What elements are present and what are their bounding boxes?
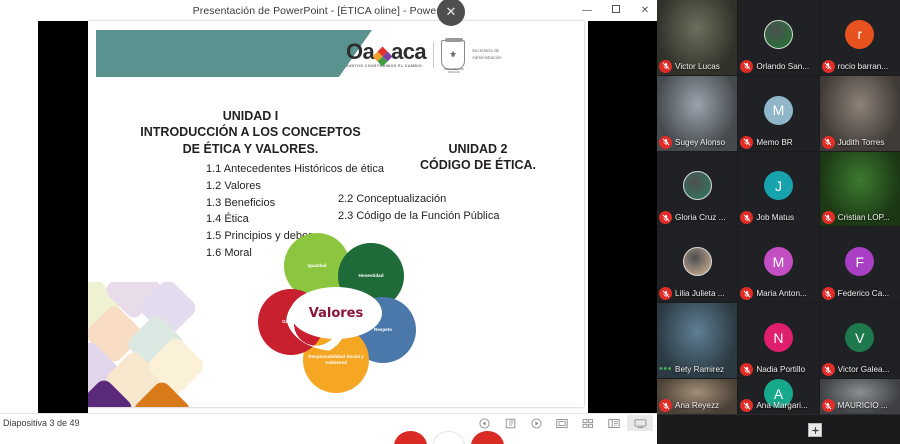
valores-diagram: Igualdad Honestidad Respeto Responsabili… xyxy=(256,231,416,396)
window-controls: — ✕ xyxy=(581,0,651,21)
participant-name: MAURICIO ... xyxy=(838,401,888,410)
slide-sorter-icon[interactable] xyxy=(575,415,601,432)
mic-muted-icon xyxy=(659,211,672,224)
oaxaca-word-post: aca xyxy=(391,39,426,64)
decorative-diamonds xyxy=(88,282,218,407)
avatar xyxy=(683,247,712,276)
participant-name-row: Cristian LOP... xyxy=(822,211,898,224)
minimize-button[interactable]: — xyxy=(581,6,593,16)
more-options-icon[interactable]: ••• xyxy=(659,363,672,376)
participant-name: Ana Margari... xyxy=(756,401,807,410)
avatar xyxy=(764,20,793,49)
participant-tile[interactable]: Sugey Alonso xyxy=(657,76,737,151)
participant-tile[interactable]: MAURICIO ... xyxy=(820,379,900,414)
expand-icon[interactable] xyxy=(808,423,822,437)
participant-name: Victor Galea... xyxy=(838,365,890,374)
avatar: F xyxy=(845,247,874,276)
participant-name: Victor Lucas xyxy=(675,62,720,71)
participant-tile[interactable]: Cristian LOP... xyxy=(820,152,900,227)
unit1-title: UNIDAD I INTRODUCCIÓN A LOS CONCEPTOS DE… xyxy=(98,108,403,157)
participant-name: Cristian LOP... xyxy=(838,213,890,222)
participant-name-row: Federico Ca... xyxy=(822,287,898,300)
secretaria-label: Secretaría de Administración xyxy=(472,48,502,60)
unit2-title-line1: UNIDAD 2 xyxy=(383,141,573,157)
window-titlebar: Presentación de PowerPoint - [ÉTICA olin… xyxy=(0,0,657,21)
mic-muted-icon xyxy=(822,399,835,412)
avatar: N xyxy=(764,323,793,352)
mic-muted-icon xyxy=(659,399,672,412)
screen: Presentación de PowerPoint - [ÉTICA olin… xyxy=(0,0,900,444)
zoom-participant-panel: Victor LucasOrlando San...rrocio barran.… xyxy=(657,0,900,444)
list-item: 1.1 Antecedentes Históricos de ética xyxy=(206,161,384,178)
avatar: V xyxy=(845,323,874,352)
slide-header-logos: Oaaca JUNTOS CONSTRUIMOS EL CAMBIO ⚜ GOB… xyxy=(346,31,576,78)
avatar: M xyxy=(764,247,793,276)
participant-name: Bety Ramirez xyxy=(675,365,724,374)
participant-tile[interactable]: Lilia Julieta ... xyxy=(657,227,737,302)
avatar xyxy=(683,171,712,200)
participant-name-row: Gloria Cruz ... xyxy=(659,211,735,224)
participant-name-row: Maria Anton... xyxy=(740,287,816,300)
slide-canvas[interactable]: Oaaca JUNTOS CONSTRUIMOS EL CAMBIO ⚜ GOB… xyxy=(88,21,584,407)
next-slide-icon[interactable] xyxy=(523,415,549,432)
participant-tile[interactable]: NNadia Portillo xyxy=(738,303,818,378)
avatar: r xyxy=(845,20,874,49)
avatar: M xyxy=(764,96,793,125)
oaxaca-logo: Oaaca JUNTOS CONSTRUIMOS EL CAMBIO xyxy=(346,41,426,68)
participant-tile[interactable]: MMaria Anton... xyxy=(738,227,818,302)
oaxaca-wordmark: Oaaca xyxy=(346,41,426,63)
unit1-title-line2: INTRODUCCIÓN A LOS CONCEPTOS xyxy=(98,124,403,140)
participant-name: Ana Reyezz xyxy=(675,401,719,410)
participant-tile[interactable]: JJob Matus xyxy=(738,152,818,227)
mic-muted-icon xyxy=(740,60,753,73)
mic-muted-icon xyxy=(740,136,753,149)
participant-name-row: Sugey Alonso xyxy=(659,136,735,149)
participant-tile[interactable]: Victor Lucas xyxy=(657,0,737,75)
mic-muted-icon xyxy=(740,399,753,412)
normal-view-icon[interactable] xyxy=(549,415,575,432)
secretaria-line1: Secretaría de xyxy=(472,48,502,54)
maximize-button[interactable] xyxy=(610,5,622,16)
secretaria-line2: Administración xyxy=(472,55,502,61)
neutral-button[interactable] xyxy=(432,431,465,444)
mic-muted-icon xyxy=(740,211,753,224)
participant-grid: Victor LucasOrlando San...rrocio barran.… xyxy=(657,0,900,414)
list-item: 2.2 Conceptualización xyxy=(338,191,499,208)
participant-name: Federico Ca... xyxy=(838,289,889,298)
mic-muted-icon xyxy=(822,363,835,376)
avatar: J xyxy=(764,171,793,200)
previous-slide-icon[interactable] xyxy=(471,415,497,432)
window-title: Presentación de PowerPoint - [ÉTICA olin… xyxy=(193,5,465,17)
participant-tile[interactable]: Orlando San... xyxy=(738,0,818,75)
mic-muted-icon xyxy=(659,60,672,73)
slideshow-view-icon[interactable] xyxy=(627,415,653,432)
mic-muted-icon xyxy=(659,136,672,149)
participant-name-row: rocio barran... xyxy=(822,60,898,73)
slide-counter: Diapositiva 3 de 49 xyxy=(3,418,80,428)
close-button[interactable]: ✕ xyxy=(639,6,651,16)
notes-icon[interactable] xyxy=(497,415,523,432)
valores-center: Valores xyxy=(290,287,382,339)
participant-name-row: Nadia Portillo xyxy=(740,363,816,376)
unit1-title-line3: DE ÉTICA Y VALORES. xyxy=(98,141,403,157)
participant-tile[interactable]: rrocio barran... xyxy=(820,0,900,75)
participant-tile[interactable]: AAna Margari... xyxy=(738,379,818,414)
participant-tile[interactable]: Ana Reyezz xyxy=(657,379,737,414)
mic-muted-icon xyxy=(822,211,835,224)
participant-name: Maria Anton... xyxy=(756,289,807,298)
mic-muted-icon xyxy=(822,287,835,300)
unit2-title: UNIDAD 2 CÓDIGO DE ÉTICA. xyxy=(383,141,573,174)
participant-tile[interactable]: •••Bety Ramirez xyxy=(657,303,737,378)
zoom-bottom-bar xyxy=(657,414,900,444)
participant-tile[interactable]: Judith Torres xyxy=(820,76,900,151)
participant-name: Lilia Julieta ... xyxy=(675,289,725,298)
participant-name-row: Ana Margari... xyxy=(740,399,816,412)
participant-name: Job Matus xyxy=(756,213,794,222)
mic-muted-icon xyxy=(822,60,835,73)
valores-center-label: Valores xyxy=(309,306,363,321)
participant-name-row: Ana Reyezz xyxy=(659,399,735,412)
participant-name: Gloria Cruz ... xyxy=(675,213,726,222)
slide-stage: Oaaca JUNTOS CONSTRUIMOS EL CAMBIO ⚜ GOB… xyxy=(0,21,657,413)
participant-name: Nadia Portillo xyxy=(756,365,805,374)
view-icons-group xyxy=(471,414,653,432)
participant-name-row: Victor Lucas xyxy=(659,60,735,73)
participant-tile[interactable]: VVictor Galea... xyxy=(820,303,900,378)
participant-tile[interactable]: Gloria Cruz ... xyxy=(657,152,737,227)
participant-name-row: Judith Torres xyxy=(822,136,898,149)
stop-share-button[interactable] xyxy=(471,431,504,444)
unit1-title-line1: UNIDAD I xyxy=(98,108,403,124)
unit2-title-line2: CÓDIGO DE ÉTICA. xyxy=(383,157,573,173)
meeting-controls-strip xyxy=(0,431,657,444)
oaxaca-word-pre: Oa xyxy=(346,39,374,64)
mic-muted-icon xyxy=(740,287,753,300)
header-divider xyxy=(433,42,434,68)
participant-tile[interactable]: MMemo BR xyxy=(738,76,818,151)
participant-tile[interactable]: FFederico Ca... xyxy=(820,227,900,302)
letterbox-left xyxy=(38,21,88,413)
participant-name: Orlando San... xyxy=(756,62,809,71)
record-button[interactable] xyxy=(394,431,427,444)
powerpoint-statusbar: Diapositiva 3 de 49 xyxy=(0,413,657,431)
participant-name: Sugey Alonso xyxy=(675,138,725,147)
participant-name-row: Orlando San... xyxy=(740,60,816,73)
participant-name-row: Memo BR xyxy=(740,136,816,149)
participant-name: Judith Torres xyxy=(838,138,885,147)
participant-name: Memo BR xyxy=(756,138,792,147)
participant-name-row: Lilia Julieta ... xyxy=(659,287,735,300)
reading-view-icon[interactable] xyxy=(601,415,627,432)
participant-name-row: Victor Galea... xyxy=(822,363,898,376)
coat-of-arms-caption: GOBIERNO DE OAXACA xyxy=(441,68,467,74)
participant-name-row: Job Matus xyxy=(740,211,816,224)
participant-name: rocio barran... xyxy=(838,62,889,71)
letterbox-right xyxy=(588,21,657,413)
mic-muted-icon xyxy=(822,136,835,149)
unit2-topic-list: 2.2 Conceptualización 2.3 Código de la F… xyxy=(338,191,499,225)
mic-muted-icon xyxy=(740,363,753,376)
mic-muted-icon xyxy=(659,287,672,300)
participant-name-row: •••Bety Ramirez xyxy=(659,363,735,376)
powerpoint-window: Presentación de PowerPoint - [ÉTICA olin… xyxy=(0,0,657,444)
list-item: 2.3 Código de la Función Pública xyxy=(338,208,499,225)
participant-name-row: MAURICIO ... xyxy=(822,399,898,412)
slide-header-banner xyxy=(96,30,372,77)
coat-of-arms-icon: ⚜ GOBIERNO DE OAXACA xyxy=(441,40,465,70)
